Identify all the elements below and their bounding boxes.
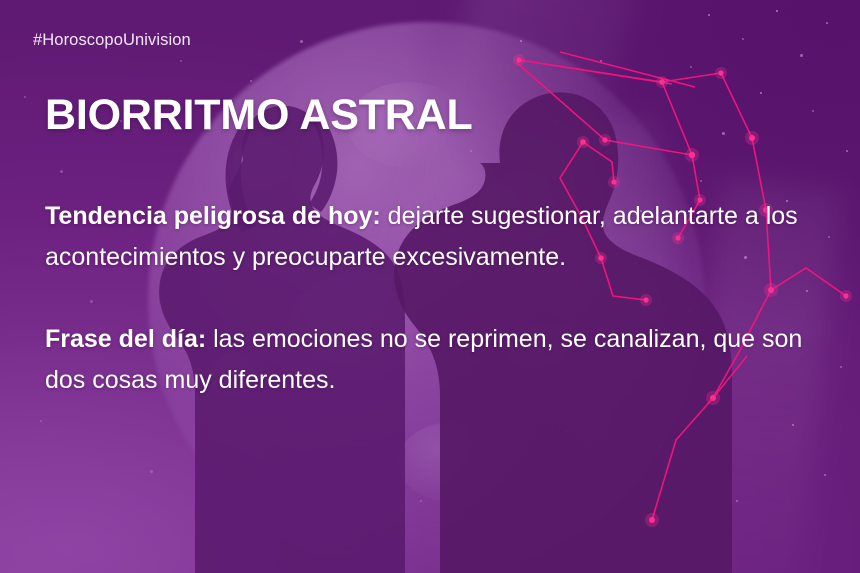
hashtag-label: #HoroscopoUnivision <box>33 31 191 50</box>
horoscope-body: Tendencia peligrosa de hoy: dejarte suge… <box>45 196 835 401</box>
page-title: BIORRITMO ASTRAL <box>45 94 473 137</box>
paragraph-tendencia-lead: Tendencia peligrosa de hoy: <box>45 202 381 230</box>
paragraph-frase-lead: Frase del día: <box>45 325 206 353</box>
card-text-content: #HoroscopoUnivision BIORRITMO ASTRAL Ten… <box>0 0 860 573</box>
horoscope-card: #HoroscopoUnivision BIORRITMO ASTRAL Ten… <box>0 0 860 573</box>
paragraph-tendencia: Tendencia peligrosa de hoy: dejarte suge… <box>45 196 835 278</box>
paragraph-frase: Frase del día: las emociones no se repri… <box>45 319 835 401</box>
